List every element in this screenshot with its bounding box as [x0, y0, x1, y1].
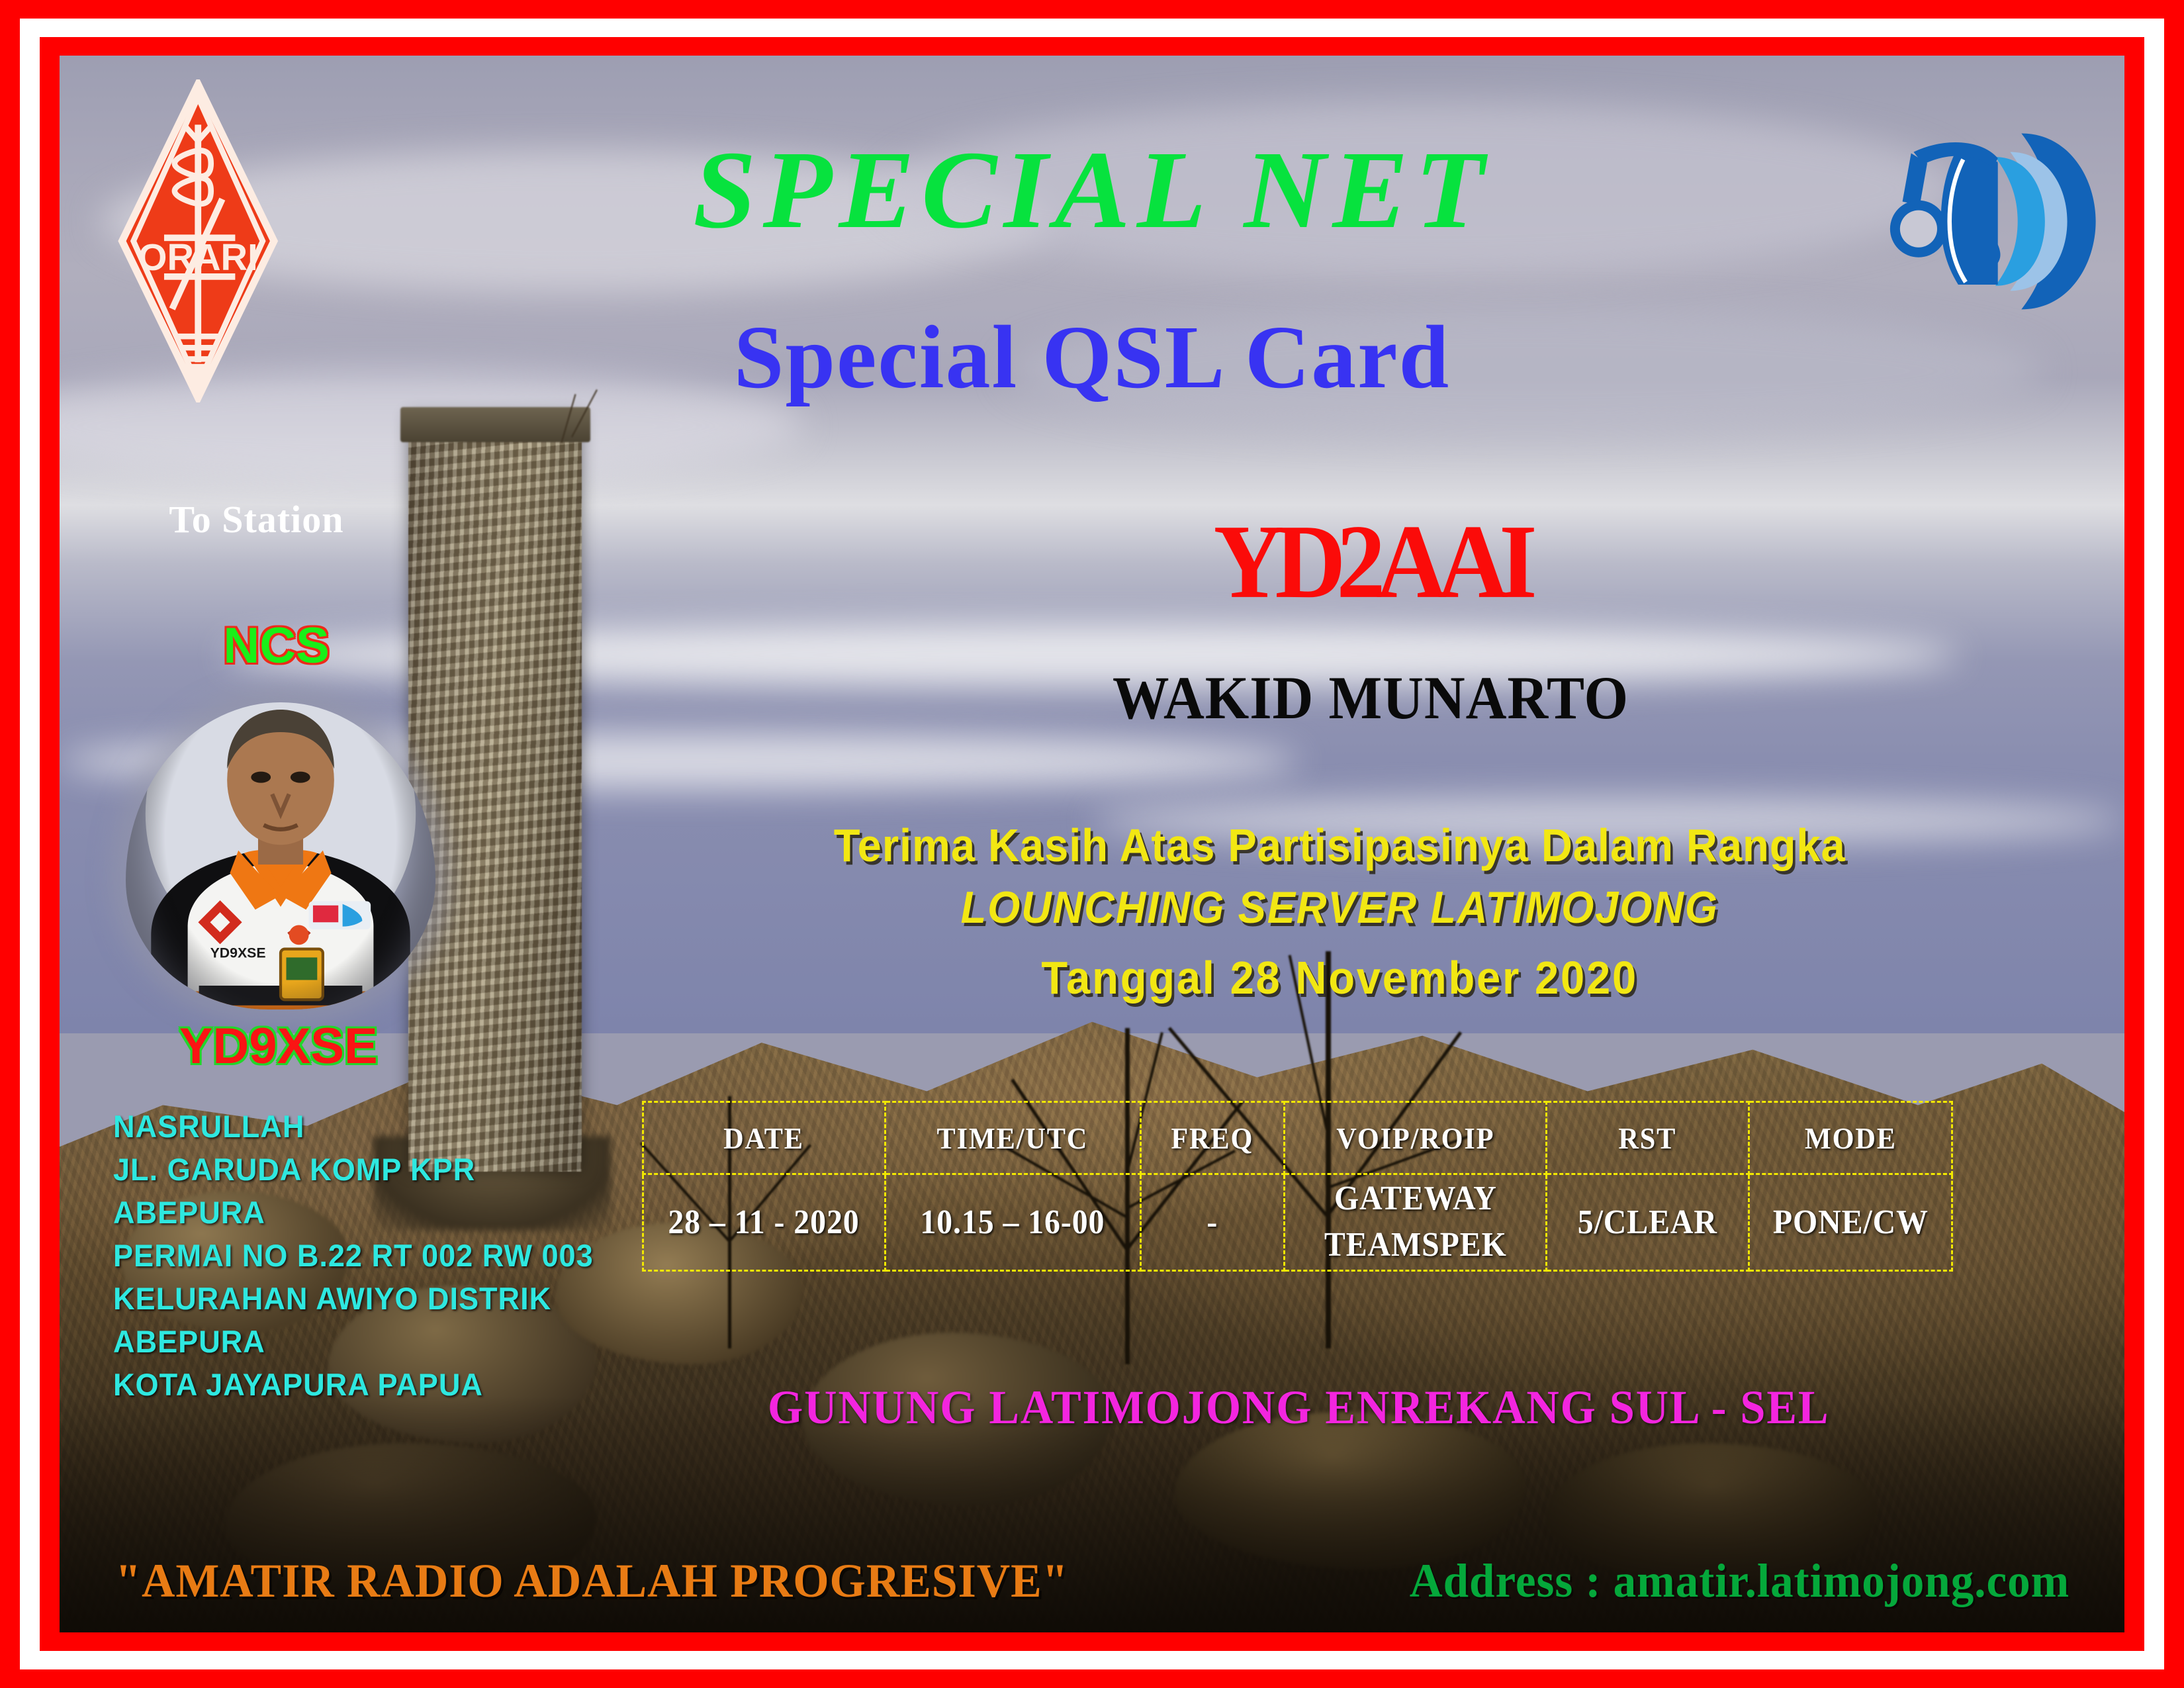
- page-title: SPECIAL NET: [60, 134, 2124, 246]
- table-header-row: DATE TIME/UTC FREQ VOIP/ROIP RST MODE: [643, 1102, 1952, 1174]
- operator-name: WAKID MUNARTO: [747, 667, 1995, 728]
- thanks-line-2: LOUNCHING SERVER LATIMOJONG: [649, 882, 2031, 933]
- station-callsign: YD2AAI: [700, 509, 2042, 615]
- cell-freq: -: [1146, 1174, 1279, 1270]
- cell-voip-roip: GATEWAYTEAMSPEK: [1295, 1174, 1535, 1270]
- cell-date: 28 – 11 - 2020: [653, 1174, 876, 1270]
- column-header-voip-roip: VOIP/ROIP: [1295, 1102, 1535, 1174]
- ncs-label: NCS: [142, 617, 411, 675]
- address-line: ABEPURA: [113, 1321, 767, 1364]
- column-header-date: DATE: [653, 1102, 876, 1174]
- column-header-time: TIME/UTC: [895, 1102, 1130, 1174]
- column-header-rst: RST: [1554, 1102, 1741, 1174]
- address-line: KELURAHAN AWIYO DISTRIK: [113, 1278, 767, 1321]
- mountain-location-line: GUNUNG LATIMOJONG ENREKANG SUL - SEL: [592, 1380, 2005, 1435]
- thanks-line-1: Terima Kasih Atas Partisipasinya Dalam R…: [649, 819, 2031, 872]
- thanks-line-3: Tanggal 28 November 2020: [649, 951, 2031, 1004]
- column-header-freq: FREQ: [1146, 1102, 1279, 1174]
- cell-mode: PONE/CW: [1757, 1174, 1944, 1270]
- card-background-photo: ORARI SPECIAL NET: [60, 56, 2124, 1632]
- table-row: 28 – 11 - 2020 10.15 – 16-00 - GATEWAYTE…: [643, 1174, 1952, 1270]
- to-station-label: To Station: [169, 497, 343, 541]
- column-header-mode: MODE: [1757, 1102, 1944, 1174]
- qso-log-table: DATE TIME/UTC FREQ VOIP/ROIP RST MODE 28…: [642, 1101, 1953, 1271]
- qsl-card: ORARI SPECIAL NET: [0, 0, 2184, 1688]
- cell-time: 10.15 – 16-00: [895, 1174, 1130, 1270]
- motto-text: "AMATIR RADIO ADALAH PROGRESIVE": [116, 1554, 1069, 1609]
- web-address-text: Address : amatir.latimojong.com: [1409, 1554, 2069, 1609]
- ncs-callsign: YD9XSE: [113, 1017, 443, 1075]
- cell-rst: 5/CLEAR: [1554, 1174, 1741, 1270]
- page-subtitle: Special QSL Card: [60, 312, 2124, 402]
